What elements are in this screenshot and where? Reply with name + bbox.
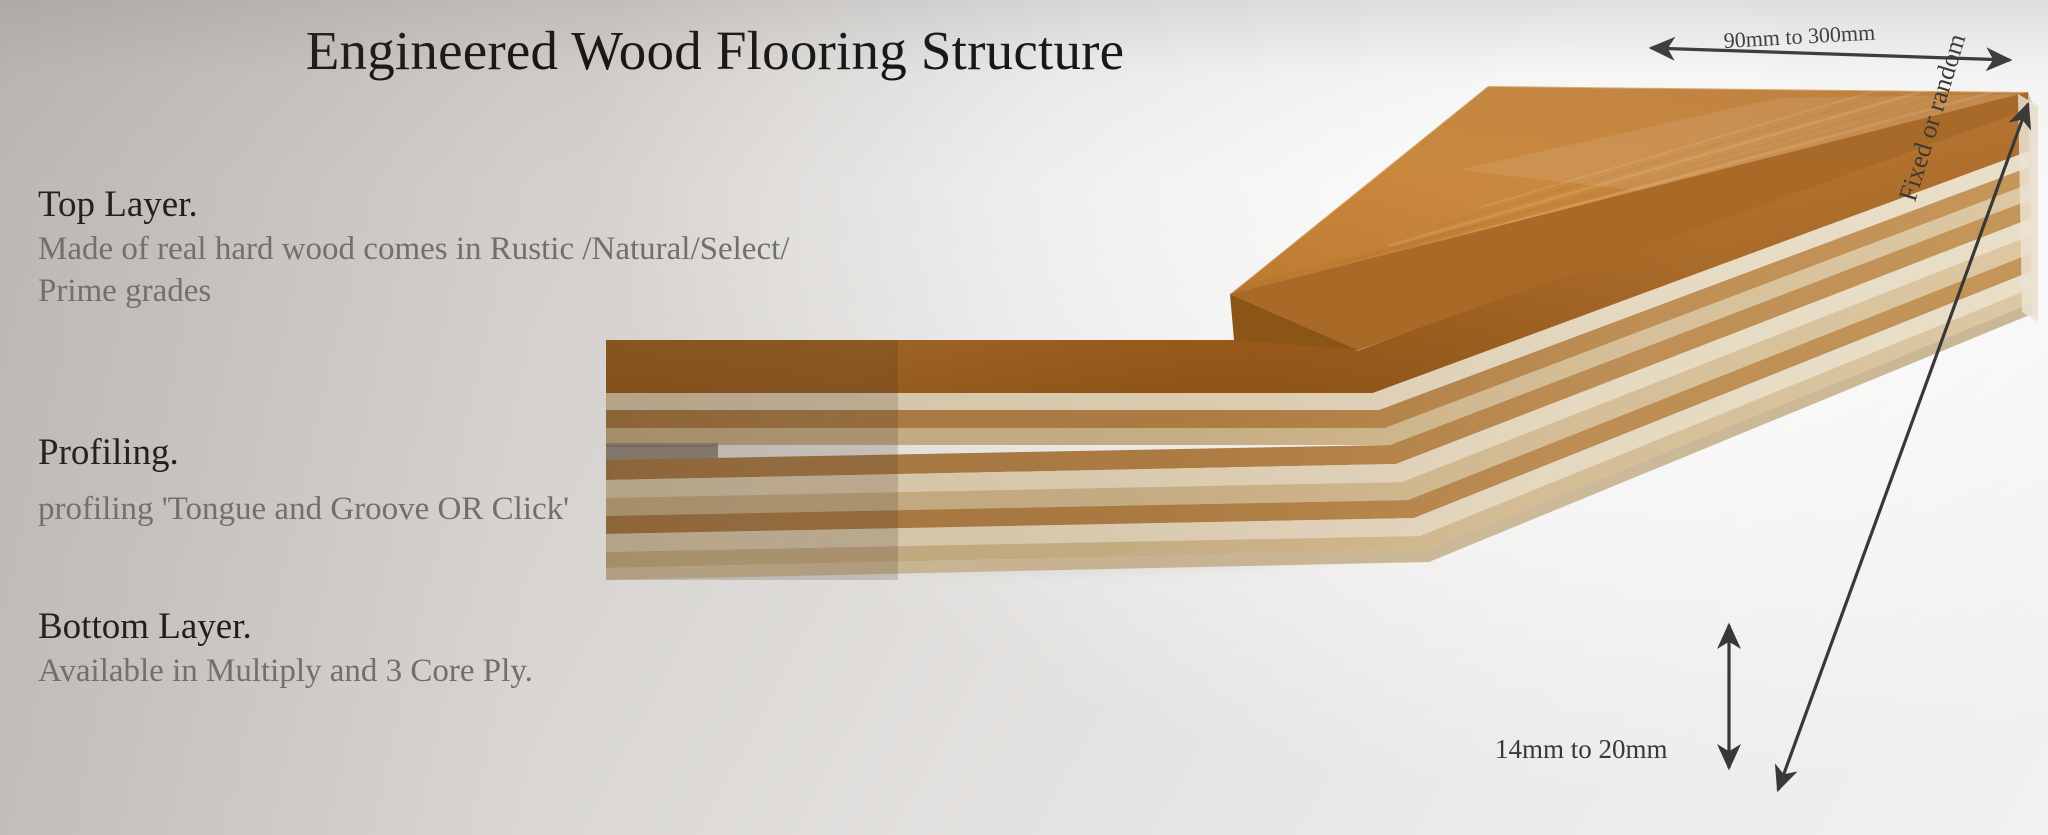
section-body-line: Made of real hard wood comes in Rustic /… xyxy=(38,229,789,271)
section-profiling: Profiling. profiling 'Tongue and Groove … xyxy=(38,432,569,531)
section-body-line: profiling 'Tongue and Groove OR Click' xyxy=(38,489,569,531)
length-arrow-icon xyxy=(1778,104,2028,790)
dimension-annotations xyxy=(0,0,2048,835)
thickness-dimension-label: 14mm to 20mm xyxy=(1495,734,1668,765)
flooring-diagram-canvas: 90mm to 300mm Fixed or random 14mm to 20… xyxy=(0,0,2048,835)
section-body-line: Available in Multiply and 3 Core Ply. xyxy=(38,651,533,693)
section-top-layer: Top Layer. Made of real hard wood comes … xyxy=(38,184,789,313)
section-body-line: Prime grades xyxy=(38,271,789,313)
section-body: Made of real hard wood comes in Rustic /… xyxy=(38,229,789,312)
section-body: Available in Multiply and 3 Core Ply. xyxy=(38,651,533,693)
section-bottom-layer: Bottom Layer. Available in Multiply and … xyxy=(38,606,533,693)
section-heading: Bottom Layer. xyxy=(38,606,533,647)
section-body: profiling 'Tongue and Groove OR Click' xyxy=(38,489,569,531)
page-title: Engineered Wood Flooring Structure xyxy=(0,22,1430,80)
section-heading: Top Layer. xyxy=(38,184,789,225)
section-heading: Profiling. xyxy=(38,432,569,473)
